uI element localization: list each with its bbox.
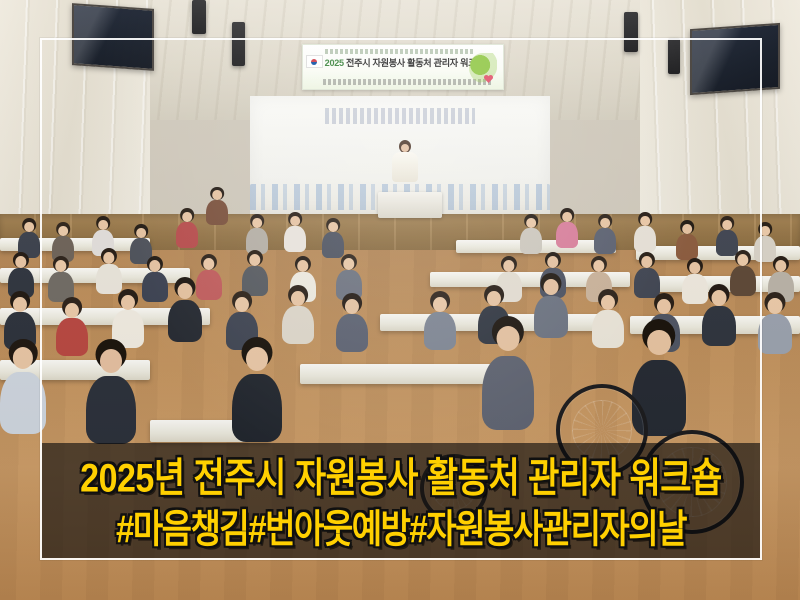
audience-person-front xyxy=(482,356,534,430)
audience-person xyxy=(730,266,756,296)
audience-person-front xyxy=(0,372,46,434)
audience-person xyxy=(424,312,456,350)
desk-row xyxy=(300,364,510,384)
audience-person xyxy=(634,268,660,298)
podium-table xyxy=(378,192,442,218)
banner-title-main: 전주시 자원봉사 활동처 관리자 워크숍 xyxy=(346,58,484,68)
audience-person xyxy=(758,314,792,354)
screen-slide-text xyxy=(325,108,475,124)
banner-year: 2025 xyxy=(325,58,344,68)
banner-detail-line xyxy=(323,79,493,85)
audience-person xyxy=(176,222,198,248)
audience-person-front xyxy=(232,374,282,442)
audience-person xyxy=(196,270,222,300)
banner-top-line xyxy=(325,49,475,54)
hanging-speaker-4 xyxy=(668,38,680,74)
audience-person xyxy=(142,272,168,302)
audience-person xyxy=(168,300,202,342)
audience-person xyxy=(284,226,306,252)
audience-person xyxy=(754,236,776,262)
hanging-speaker-2 xyxy=(232,22,245,66)
leaf-icon xyxy=(469,53,497,83)
hanging-speaker-3 xyxy=(624,12,638,52)
caption-overlay-band: 2025년 전주시 자원봉사 활동처 관리자 워크숍 #마음챙김#번아웃예방#자… xyxy=(42,443,760,558)
audience-person xyxy=(322,232,344,258)
audience-person xyxy=(96,264,122,294)
audience-person xyxy=(716,230,738,256)
audience-person xyxy=(520,228,542,254)
wall-monitor-left xyxy=(72,3,154,71)
audience-person xyxy=(282,306,314,344)
audience-person xyxy=(336,314,368,352)
audience-person xyxy=(56,318,88,356)
poster-headline: 2025년 전주시 자원봉사 활동처 관리자 워크숍 xyxy=(80,454,722,499)
audience-person xyxy=(702,306,736,346)
stage-banner: 2025 전주시 자원봉사 활동처 관리자 워크숍 xyxy=(302,44,504,90)
wall-monitor-right xyxy=(690,23,780,95)
presenter xyxy=(392,140,418,196)
workshop-photo-poster: 2025 전주시 자원봉사 활동처 관리자 워크숍 xyxy=(0,0,800,600)
audience-person xyxy=(206,200,228,225)
hanging-speaker-1 xyxy=(192,0,206,34)
audience-person xyxy=(556,222,578,248)
audience-person-front xyxy=(86,376,136,444)
audience-person xyxy=(676,234,698,260)
audience-person xyxy=(592,310,624,348)
poster-hashtags: #마음챙김#번아웃예방#자원봉사관리자의날 xyxy=(116,493,686,548)
banner-title-text: 2025 전주시 자원봉사 활동처 관리자 워크숍 xyxy=(325,57,490,70)
audience-person xyxy=(682,274,708,304)
audience-person xyxy=(634,226,656,252)
korean-flag-icon xyxy=(306,55,323,68)
audience-person xyxy=(534,296,568,338)
audience-person xyxy=(594,228,616,254)
